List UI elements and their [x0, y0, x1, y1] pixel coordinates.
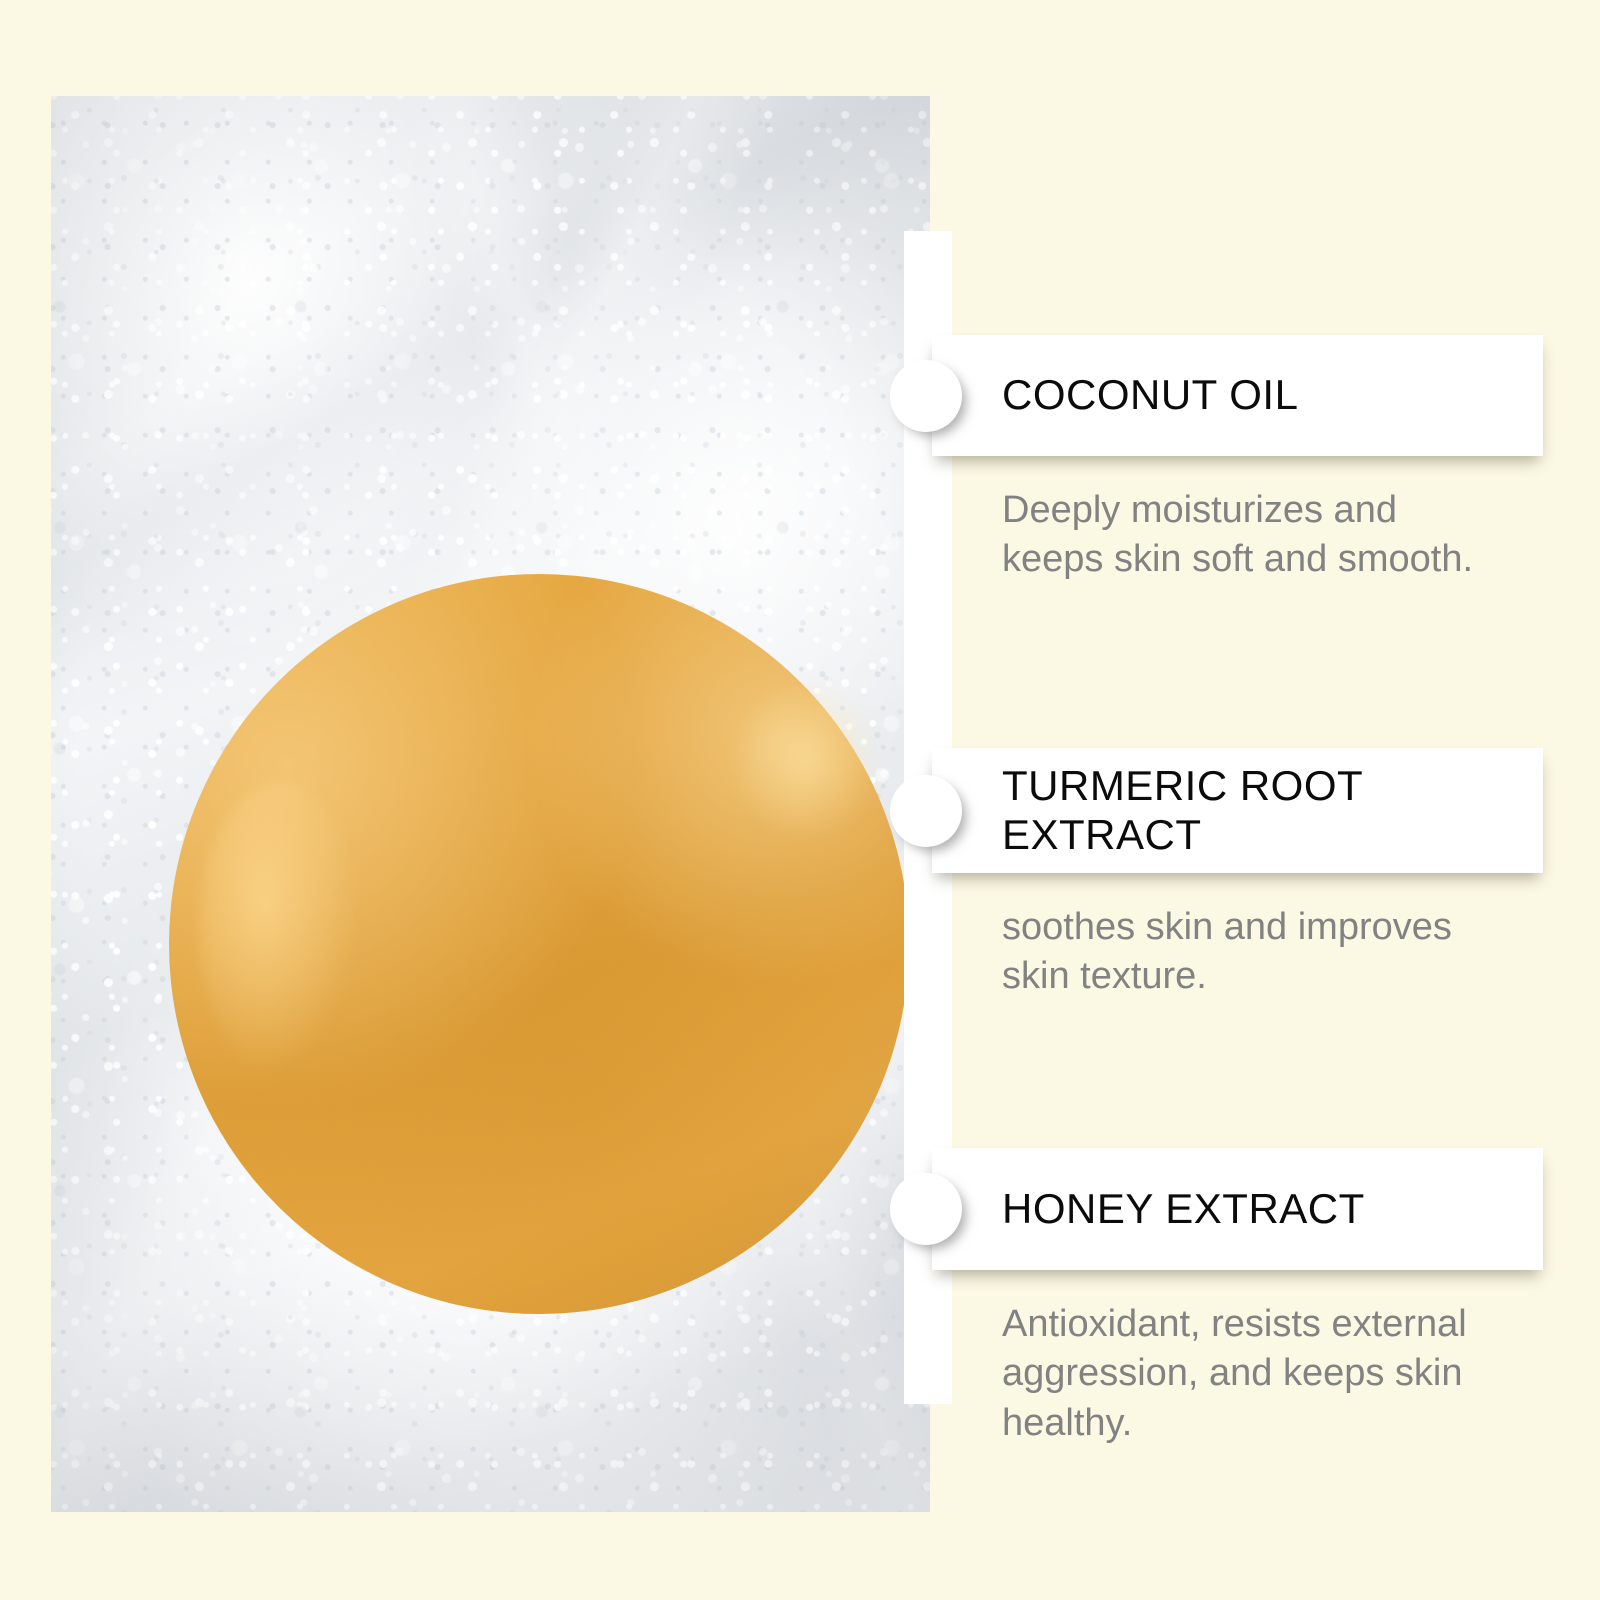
- bullet-dot-icon: [890, 1173, 962, 1245]
- ingredient-description: soothes skin and improves skin texture.: [932, 873, 1543, 1002]
- ingredient-description: Antioxidant, resists external aggression…: [932, 1270, 1543, 1448]
- bullet-dot-icon: [890, 775, 962, 847]
- ingredient-title: HONEY EXTRACT: [1002, 1185, 1365, 1234]
- product-photo: [51, 96, 930, 1512]
- ingredient-card-header[interactable]: TURMERIC ROOT EXTRACT: [932, 748, 1543, 873]
- ingredient-description: Deeply moisturizes and keeps skin soft a…: [932, 456, 1543, 585]
- ingredient-item-turmeric-root-extract[interactable]: TURMERIC ROOT EXTRACT soothes skin and i…: [932, 748, 1543, 1002]
- ingredient-title: COCONUT OIL: [1002, 371, 1298, 420]
- infographic-canvas: COCONUT OIL Deeply moisturizes and keeps…: [0, 0, 1600, 1600]
- ingredient-title: TURMERIC ROOT EXTRACT: [1002, 762, 1363, 859]
- ingredient-item-coconut-oil[interactable]: COCONUT OIL Deeply moisturizes and keeps…: [932, 335, 1543, 585]
- ingredient-item-honey-extract[interactable]: HONEY EXTRACT Antioxidant, resists exter…: [932, 1148, 1543, 1448]
- photo-vignette: [51, 96, 930, 1512]
- ingredient-card-header[interactable]: HONEY EXTRACT: [932, 1148, 1543, 1270]
- bullet-dot-icon: [890, 360, 962, 432]
- ingredient-card-header[interactable]: COCONUT OIL: [932, 335, 1543, 456]
